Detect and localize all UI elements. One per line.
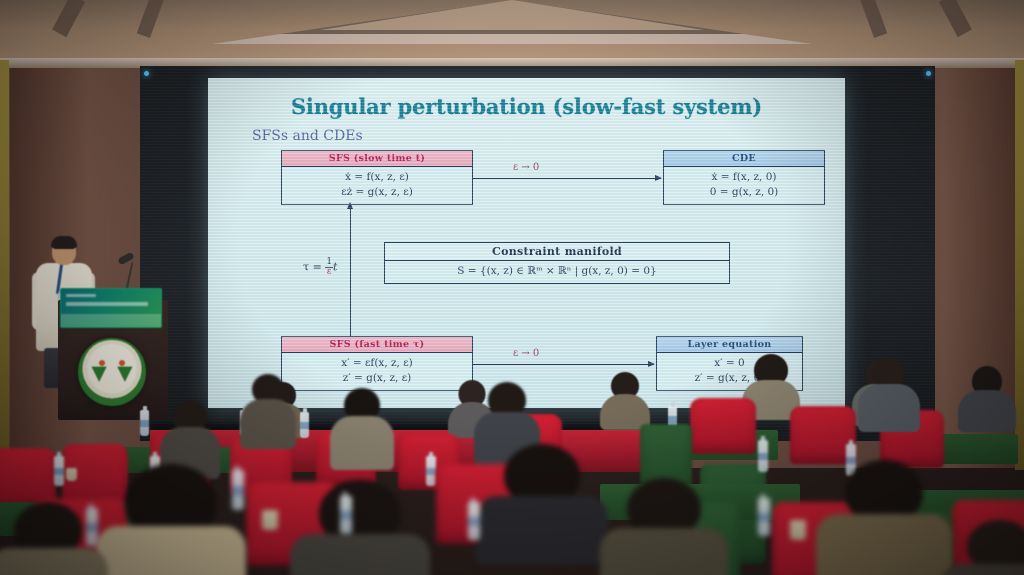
tau-symbol: τ =: [303, 260, 322, 273]
box-body: S = {(x, z) ∈ ℝᵐ × ℝⁿ | g(x, z, 0) = 0}: [385, 261, 729, 283]
paper-cup: [66, 468, 77, 481]
status-led-icon: [144, 71, 149, 76]
ceiling-beam: [52, 0, 85, 37]
fraction-one-over-epsilon: 1 ε: [325, 258, 333, 278]
water-bottle: [86, 508, 98, 546]
variable-t: t: [333, 260, 337, 273]
box-body: ẋ = f(x, z, ε) εż = g(x, z, ε): [282, 167, 472, 204]
ceiling-gable-panel: [320, 0, 704, 30]
box-cde: CDE ẋ = f(x, z, 0) 0 = g(x, z, 0): [663, 150, 825, 205]
ceiling-beam: [860, 0, 887, 38]
audience-member: [330, 388, 394, 466]
banner-skyline-graphic: [61, 314, 161, 327]
water-bottle: [300, 412, 309, 438]
audience-member: [958, 366, 1016, 426]
audience-member: [290, 480, 430, 575]
box-header: SFS (slow time t): [282, 151, 472, 167]
equation-line: S = {(x, z) ∈ ℝᵐ × ℝⁿ | g(x, z, 0) = 0}: [385, 264, 729, 279]
audience-member-laughing: [858, 358, 920, 428]
slide-title: Singular perturbation (slow-fast system): [208, 94, 845, 119]
ceiling-beam: [137, 0, 164, 38]
equation-line: ẋ = f(x, z, 0): [664, 170, 824, 185]
equation-line: ẋ = f(x, z, ε): [282, 170, 472, 185]
ceiling: [0, 0, 1024, 64]
box-constraint-manifold: Constraint manifold S = {(x, z) ∈ ℝᵐ × ℝ…: [384, 242, 730, 284]
slide-subtitle: SFSs and CDEs: [252, 128, 363, 144]
audience-member: [816, 460, 952, 570]
audience-member: [240, 374, 296, 446]
box-header: Constraint manifold: [385, 243, 729, 261]
conference-room-photo: Singular perturbation (slow-fast system)…: [0, 0, 1024, 575]
audience-member: [96, 464, 246, 575]
box-header: CDE: [664, 151, 824, 167]
audience-area: [0, 352, 1024, 575]
box-body: ẋ = f(x, z, 0) 0 = g(x, z, 0): [664, 167, 824, 204]
water-bottle: [758, 440, 768, 472]
audience-member: [600, 478, 728, 575]
podium-banner: [60, 288, 162, 328]
paper-cup: [262, 510, 278, 530]
box-header: Layer equation: [657, 337, 802, 353]
box-header: SFS (fast time τ): [282, 337, 472, 353]
box-sfs-slow-time: SFS (slow time t) ẋ = f(x, z, ε) εż = g(…: [281, 150, 473, 205]
arrow-fast-to-slow: [350, 208, 351, 336]
audience-member: [940, 520, 1024, 575]
arrow-sfs-to-cde: [473, 178, 661, 179]
audience-member: [476, 444, 608, 556]
chair: [690, 398, 756, 454]
fraction-denominator: ε: [325, 268, 333, 277]
audience-member: [160, 400, 220, 474]
audience-member: [600, 372, 650, 426]
equation-line: 0 = g(x, z, 0): [664, 185, 824, 200]
paper-cup: [790, 520, 806, 540]
glasses-icon: [54, 248, 74, 253]
water-bottle: [54, 456, 64, 486]
arrow-label-epsilon-to-zero: ε → 0: [513, 162, 539, 173]
water-bottle: [758, 498, 770, 536]
water-bottle: [468, 502, 480, 540]
water-bottle: [140, 410, 149, 436]
presenter-hair: [51, 236, 77, 248]
time-rescale-label: τ = 1 ε t: [303, 258, 337, 278]
status-led-icon: [926, 71, 931, 76]
water-bottle: [232, 470, 244, 510]
equation-line: εż = g(x, z, ε): [282, 185, 472, 200]
ceiling-beam: [939, 0, 972, 37]
water-bottle: [340, 496, 352, 534]
